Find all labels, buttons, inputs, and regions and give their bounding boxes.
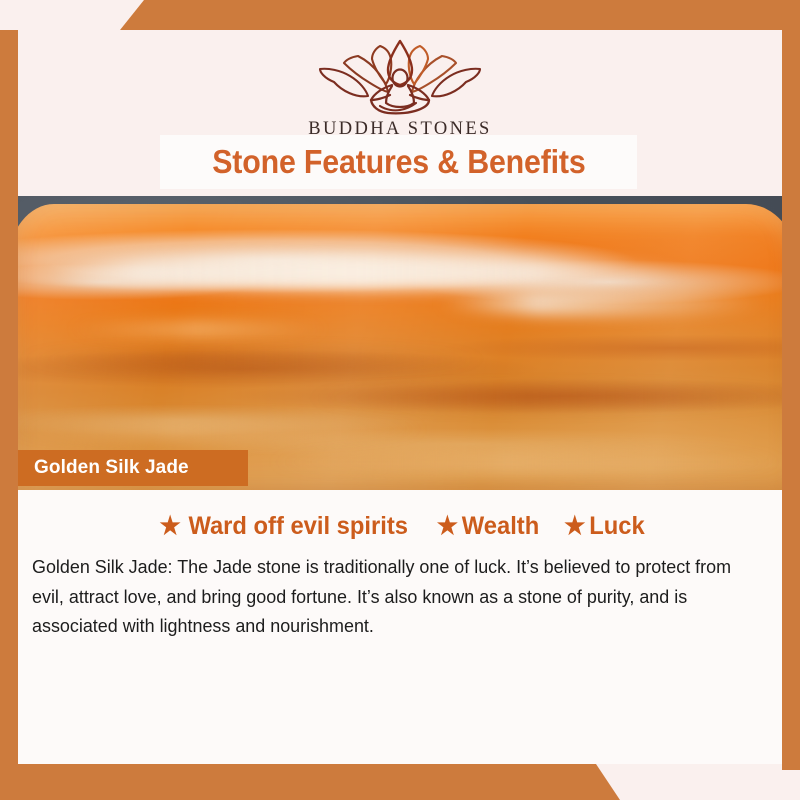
stone-photo xyxy=(18,196,782,490)
benefit-item: ★ Wealth xyxy=(437,512,540,541)
benefits-list: ★ Ward off evil spirits ★ Wealth ★ Luck xyxy=(18,512,782,541)
star-icon: ★ xyxy=(564,514,585,539)
brand-logo: BUDDHA STONES xyxy=(18,36,782,140)
lotus-meditation-icon xyxy=(314,36,486,118)
header-section: BUDDHA STONES Stone Features & Benefits xyxy=(18,30,782,196)
stone-name-badge: Golden Silk Jade xyxy=(18,450,248,486)
page-title-text: Stone Features & Benefits xyxy=(212,143,585,181)
infographic-card: BUDDHA STONES Stone Features & Benefits … xyxy=(0,0,800,800)
benefit-label: Ward off evil spirits xyxy=(188,512,408,541)
star-icon: ★ xyxy=(437,514,458,539)
silk-streak xyxy=(68,322,328,336)
star-icon: ★ xyxy=(159,514,180,539)
description-text: Golden Silk Jade: The Jade stone is trad… xyxy=(32,552,765,641)
silk-streak xyxy=(48,256,688,290)
frame-top-band xyxy=(0,0,800,30)
benefit-label: Wealth xyxy=(462,512,539,541)
silk-streak xyxy=(268,450,782,474)
benefit-item: ★ Ward off evil spirits xyxy=(159,512,407,541)
frame-right-band xyxy=(782,30,800,770)
silk-streak xyxy=(18,350,488,368)
description-section: ★ Ward off evil spirits ★ Wealth ★ Luck … xyxy=(18,490,782,764)
silk-streak xyxy=(308,388,782,408)
frame-bottom-band xyxy=(0,764,800,800)
benefit-label: Luck xyxy=(590,512,645,541)
benefit-item: ★ Luck xyxy=(564,512,645,541)
stone-name-label: Golden Silk Jade xyxy=(18,457,189,479)
silk-streak xyxy=(438,290,768,316)
page-title: Stone Features & Benefits xyxy=(160,135,637,189)
frame-left-band xyxy=(0,30,18,770)
silk-streak xyxy=(18,418,428,440)
golden-silk-jade-stone-icon xyxy=(18,204,782,490)
